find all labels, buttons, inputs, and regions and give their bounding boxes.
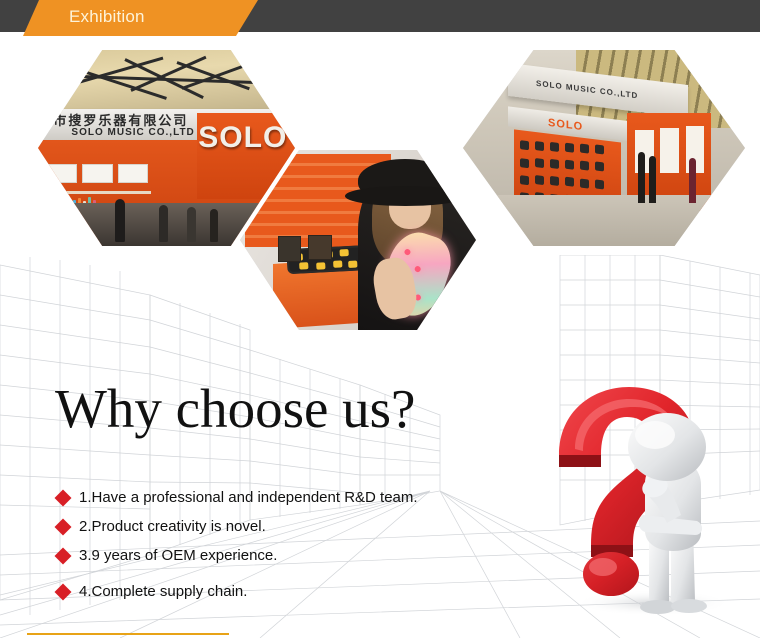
hexagon-photo-led-ukulele[interactable] bbox=[240, 150, 476, 330]
list-item-label: 2.Product creativity is novel. bbox=[79, 518, 266, 535]
list-item-label: 1.Have a professional and independent R&… bbox=[79, 489, 418, 506]
question-mark-thinker-graphic bbox=[545, 375, 750, 620]
list-item: 2.Product creativity is novel. bbox=[57, 512, 418, 541]
page-root: Exhibition 市搜罗乐器有限公司 SOLO MUSIC CO.,LTD bbox=[0, 0, 760, 638]
led-ukulele-scene bbox=[240, 150, 476, 330]
section-header: Exhibition bbox=[0, 0, 760, 36]
footer-accent-rule bbox=[27, 633, 229, 635]
list-item: 1.Have a professional and independent R&… bbox=[57, 483, 418, 512]
hexagon-photo-booth-wide[interactable]: SOLO MUSIC CO.,LTD SOLO bbox=[463, 50, 745, 246]
ceiling-truss bbox=[38, 50, 295, 117]
page-title: Why choose us? bbox=[55, 381, 415, 436]
list-item-label: 4.Complete supply chain. bbox=[79, 583, 247, 600]
booth-wide-scene: SOLO MUSIC CO.,LTD SOLO bbox=[463, 50, 745, 246]
list-item: 3.9 years of OEM experience. bbox=[57, 541, 418, 570]
diamond-bullet-icon bbox=[55, 583, 72, 600]
booth-sign-chinese: 市搜罗乐器有限公司 bbox=[53, 110, 188, 129]
diamond-bullet-icon bbox=[55, 489, 72, 506]
list-item: 4.Complete supply chain. bbox=[57, 577, 418, 606]
benefits-list: 1.Have a professional and independent R&… bbox=[57, 483, 418, 606]
section-title: Exhibition bbox=[69, 7, 145, 27]
list-item-label: 3.9 years of OEM experience. bbox=[79, 547, 277, 564]
diamond-bullet-icon bbox=[55, 547, 72, 564]
booth-sign-english: SOLO MUSIC CO.,LTD bbox=[71, 127, 194, 138]
diamond-bullet-icon bbox=[55, 518, 72, 535]
